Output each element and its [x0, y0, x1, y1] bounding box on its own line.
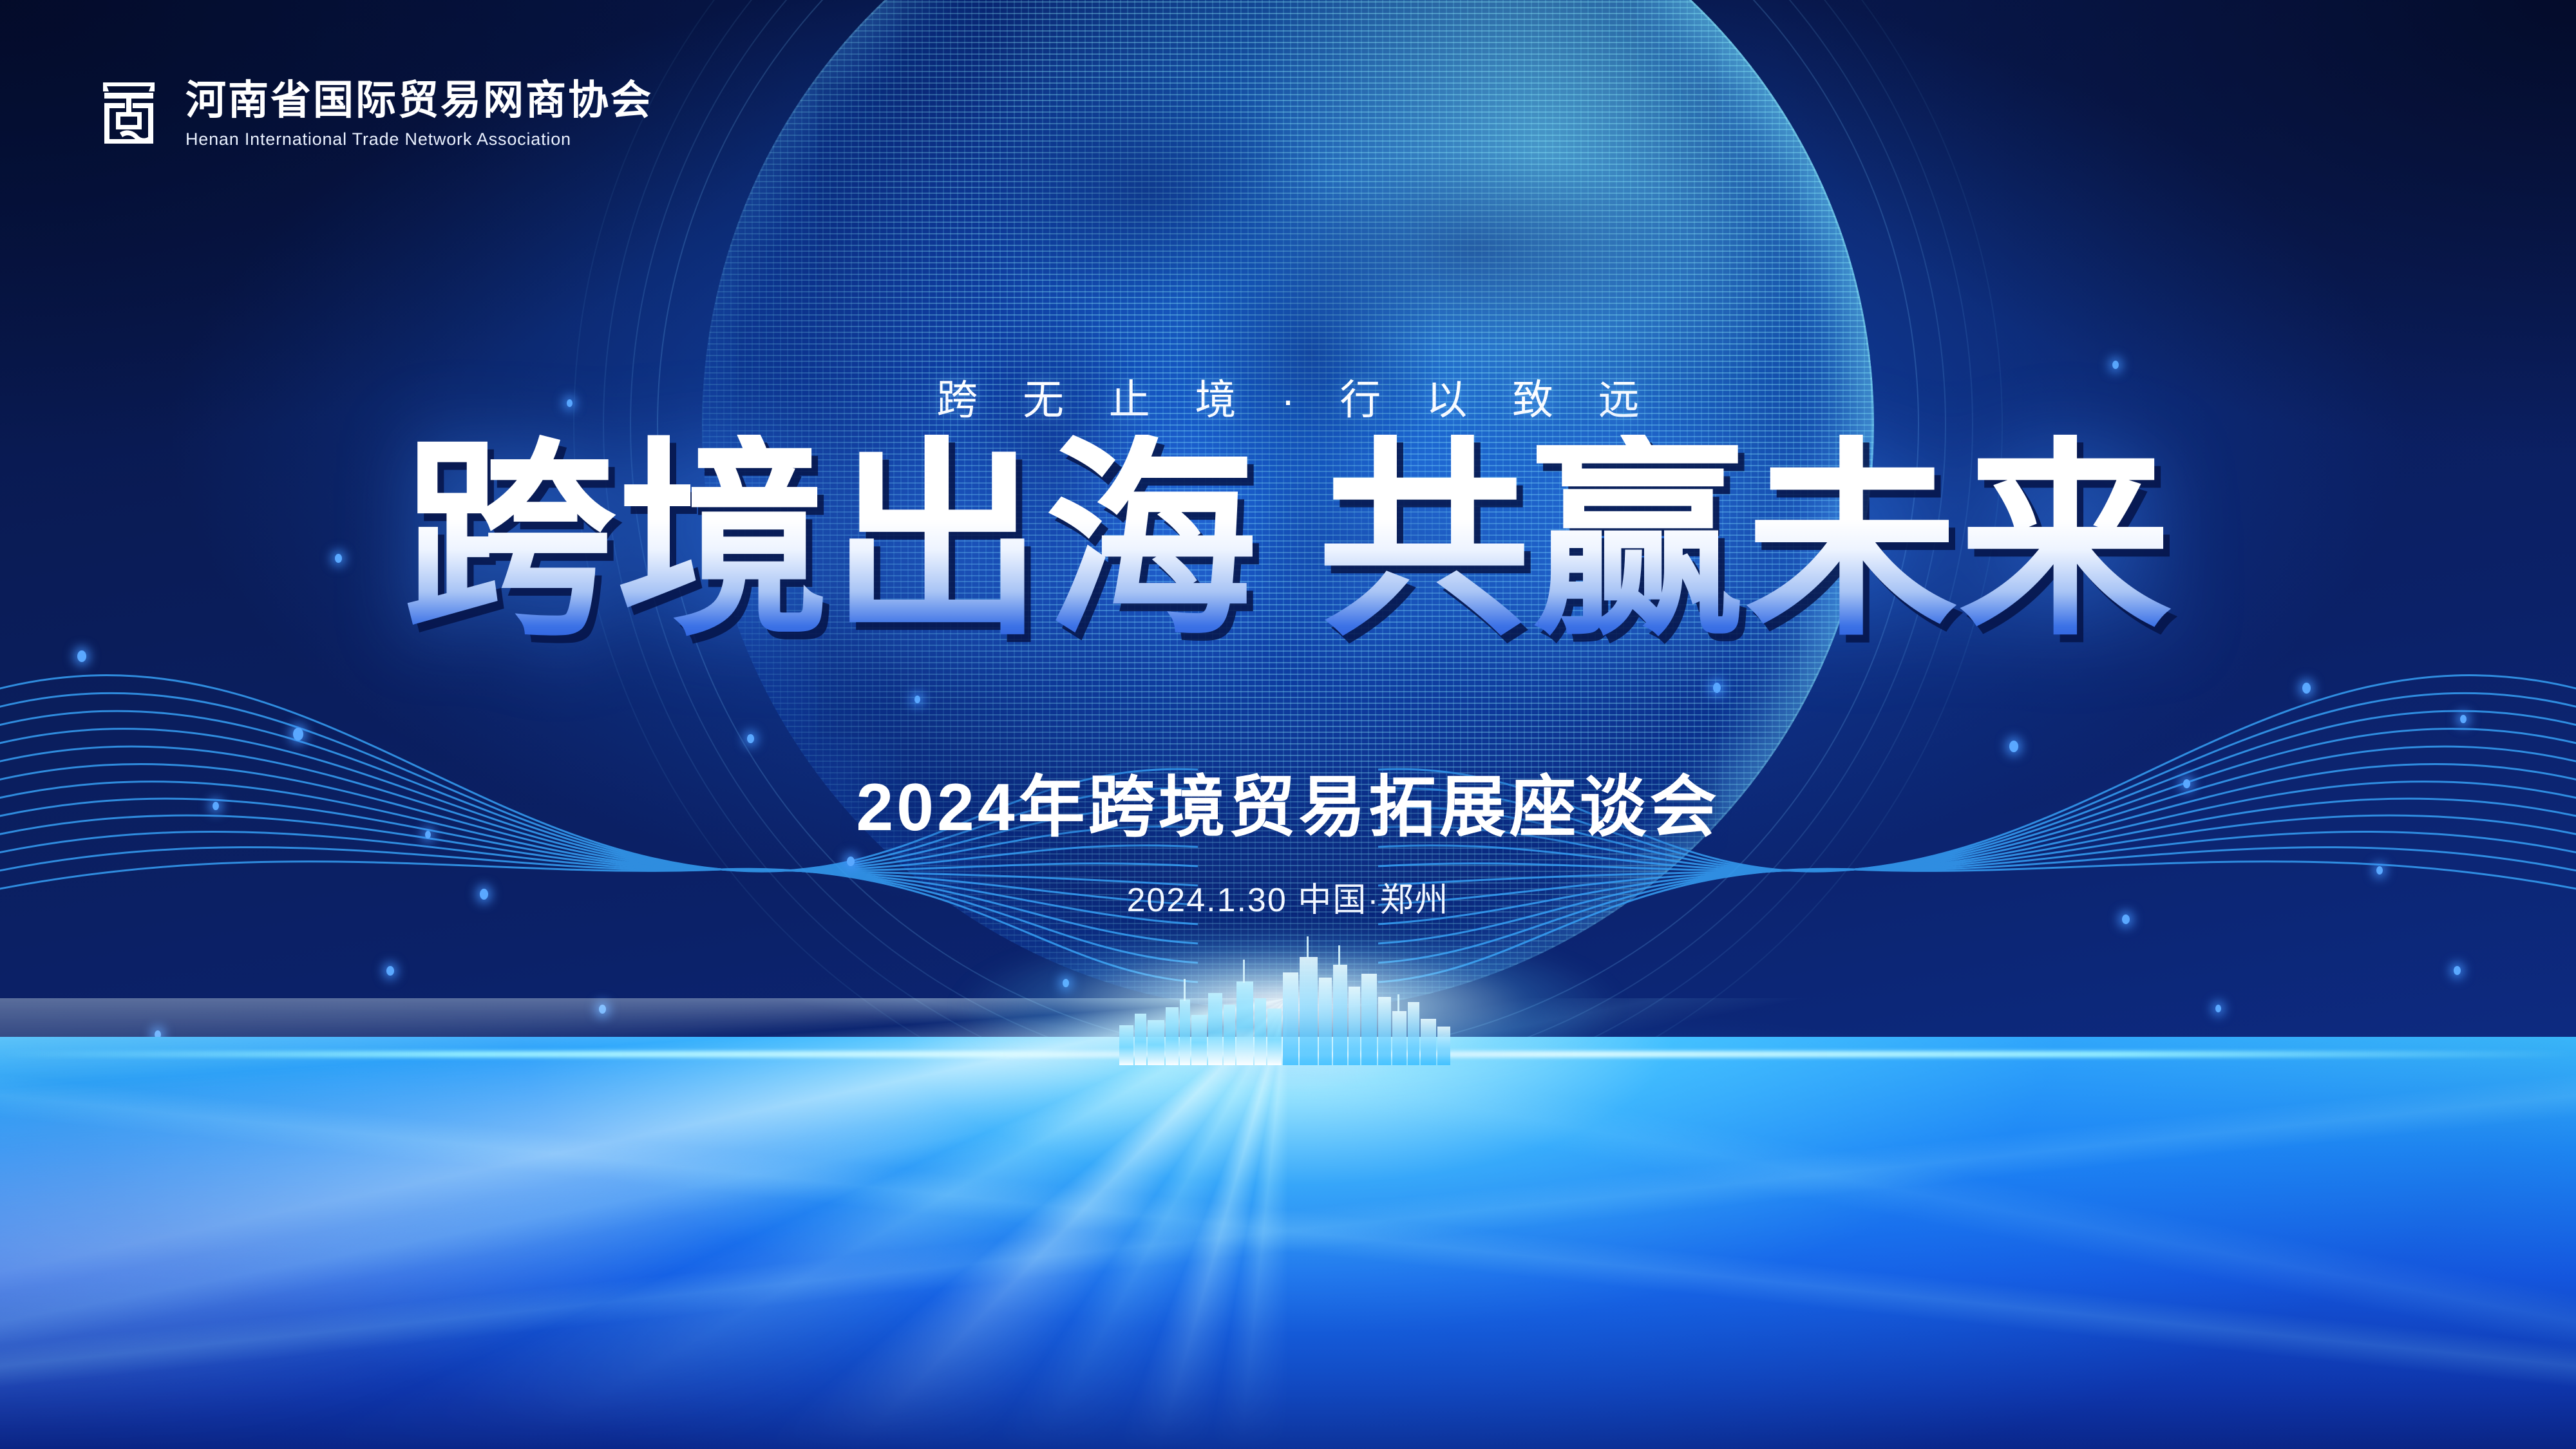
- headline-part-2: 共赢未来: [1318, 435, 2173, 647]
- event-headline: 跨境出海共赢未来: [0, 435, 2576, 647]
- logo-text-block: 河南省国际贸易网商协会 Henan International Trade Ne…: [185, 79, 653, 149]
- city-skyline: [1114, 917, 1462, 1065]
- event-poster: 河南省国际贸易网商协会 Henan International Trade Ne…: [0, 0, 2576, 1449]
- logo-name-cn: 河南省国际贸易网商协会: [185, 79, 653, 122]
- event-dateline: 2024.1.30 中国·郑州: [0, 873, 2576, 921]
- seal-emblem-icon: [97, 77, 161, 151]
- organization-logo[interactable]: 河南省国际贸易网商协会 Henan International Trade Ne…: [97, 77, 653, 151]
- event-tagline: 跨 无 止 境 · 行 以 致 远: [0, 367, 2576, 426]
- headline-part-1: 跨境出海: [403, 435, 1258, 647]
- logo-name-en: Henan International Trade Network Associ…: [185, 129, 653, 149]
- event-subtitle: 2024年跨境贸易拓展座谈会: [0, 752, 2576, 849]
- ground-plane: [0, 1037, 2576, 1449]
